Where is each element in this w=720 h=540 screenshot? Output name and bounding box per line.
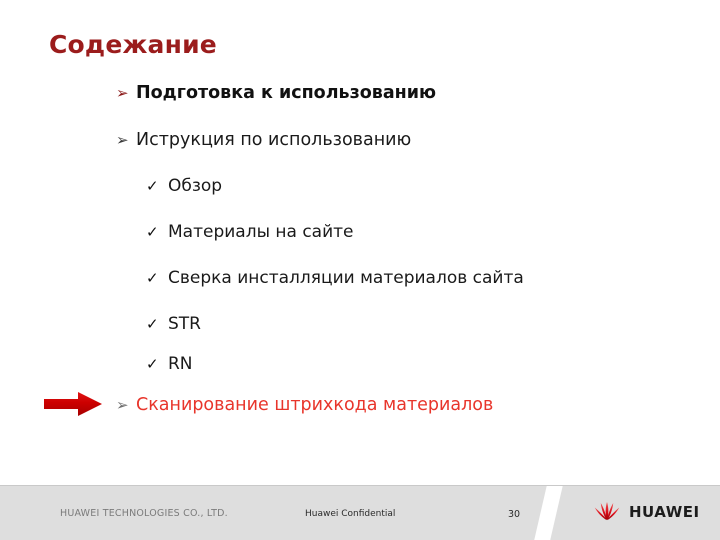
arrow-bullet-icon: ➢ — [116, 133, 136, 148]
list-item-label: Сверка инсталляции материалов сайта — [168, 269, 524, 288]
check-bullet-icon: ✓ — [146, 357, 168, 372]
check-bullet-icon: ✓ — [146, 179, 168, 194]
list-item-label: Материалы на сайте — [168, 223, 354, 242]
check-bullet-icon: ✓ — [146, 271, 168, 286]
arrow-bullet-icon: ➢ — [116, 86, 136, 101]
footer-page-number: 30 — [508, 509, 520, 520]
slide-canvas: Содежание ➢ Подготовка к использованию ➢… — [0, 0, 720, 540]
list-item-label: Обзор — [168, 177, 222, 196]
arrow-bullet-icon: ➢ — [116, 398, 136, 413]
list-item-site-materials[interactable]: ✓ Материалы на сайте — [146, 223, 354, 242]
check-bullet-icon: ✓ — [146, 317, 168, 332]
list-item-label: RN — [168, 355, 193, 374]
list-item-instruction[interactable]: ➢ Иструкция по использованию — [116, 131, 411, 150]
red-right-arrow-icon — [44, 392, 102, 416]
footer-confidentiality-label: Huawei Confidential — [305, 509, 395, 519]
list-item-installation-check[interactable]: ✓ Сверка инсталляции материалов сайта — [146, 269, 524, 288]
list-item-label: STR — [168, 315, 201, 334]
list-item-str[interactable]: ✓ STR — [146, 315, 201, 334]
slide-footer: HUAWEI TECHNOLOGIES CO., LTD. Huawei Con… — [0, 485, 720, 540]
footer-company-name: HUAWEI TECHNOLOGIES CO., LTD. — [60, 508, 228, 519]
list-item-label: Сканирование штрихкода материалов — [136, 396, 493, 415]
check-bullet-icon: ✓ — [146, 225, 168, 240]
list-item-preparation[interactable]: ➢ Подготовка к использованию — [116, 84, 436, 103]
huawei-logo: HUAWEI — [592, 499, 700, 525]
list-item-label: Подготовка к использованию — [136, 84, 436, 103]
page-title: Содежание — [49, 30, 217, 59]
list-item-label: Иструкция по использованию — [136, 131, 411, 150]
list-item-rn[interactable]: ✓ RN — [146, 355, 193, 374]
list-item-overview[interactable]: ✓ Обзор — [146, 177, 222, 196]
huawei-flower-icon — [592, 499, 622, 525]
footer-diagonal-divider — [532, 485, 564, 540]
huawei-wordmark: HUAWEI — [629, 505, 700, 520]
list-item-barcode-scanning[interactable]: ➢ Сканирование штрихкода материалов — [116, 396, 493, 415]
